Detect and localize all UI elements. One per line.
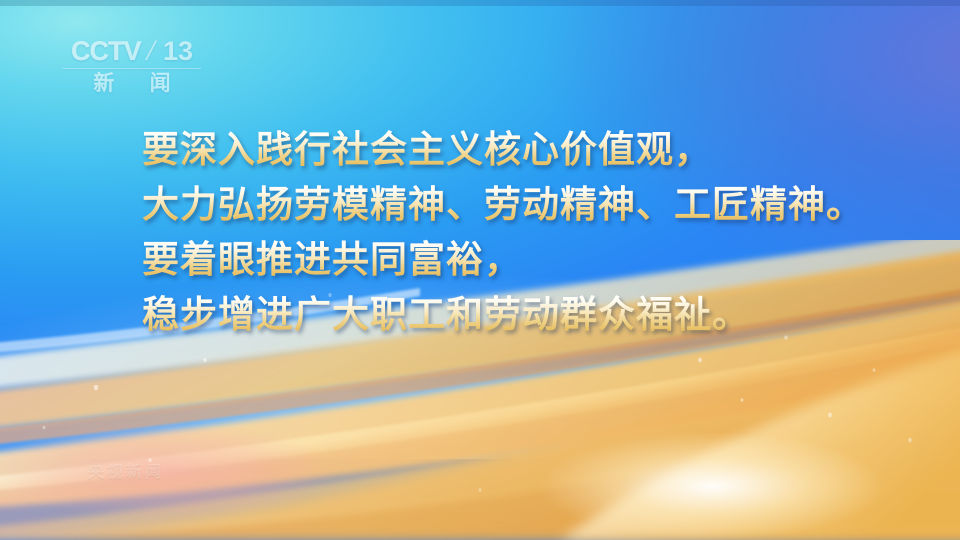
top-edge-bar xyxy=(0,0,960,6)
logo-divider-rule xyxy=(63,68,201,69)
channel-number: 13 xyxy=(163,38,193,65)
channel-logo: CCTV / 13 新 闻 xyxy=(57,38,207,95)
quote-line-4: 稳步增进广大职工和劳动群众福祉。 xyxy=(142,287,932,342)
broadcast-screen: 央视新闻 CCTV / 13 新 闻 要深入践行社会主义核心价值观， 大力弘扬劳… xyxy=(0,0,960,540)
channel-name-label: 新 闻 xyxy=(57,71,207,95)
quote-text-block: 要深入践行社会主义核心价值观， 大力弘扬劳模精神、劳动精神、工匠精神。 要着眼推… xyxy=(142,122,932,342)
quote-line-2: 大力弘扬劳模精神、劳动精神、工匠精神。 xyxy=(142,177,932,232)
cctv-wordmark: CCTV xyxy=(71,38,141,65)
logo-slash-divider: / xyxy=(144,38,159,65)
channel-logo-top-row: CCTV / 13 xyxy=(57,38,207,65)
quote-line-3: 要着眼推进共同富裕， xyxy=(142,232,932,287)
quote-line-1: 要深入践行社会主义核心价值观， xyxy=(142,122,932,177)
